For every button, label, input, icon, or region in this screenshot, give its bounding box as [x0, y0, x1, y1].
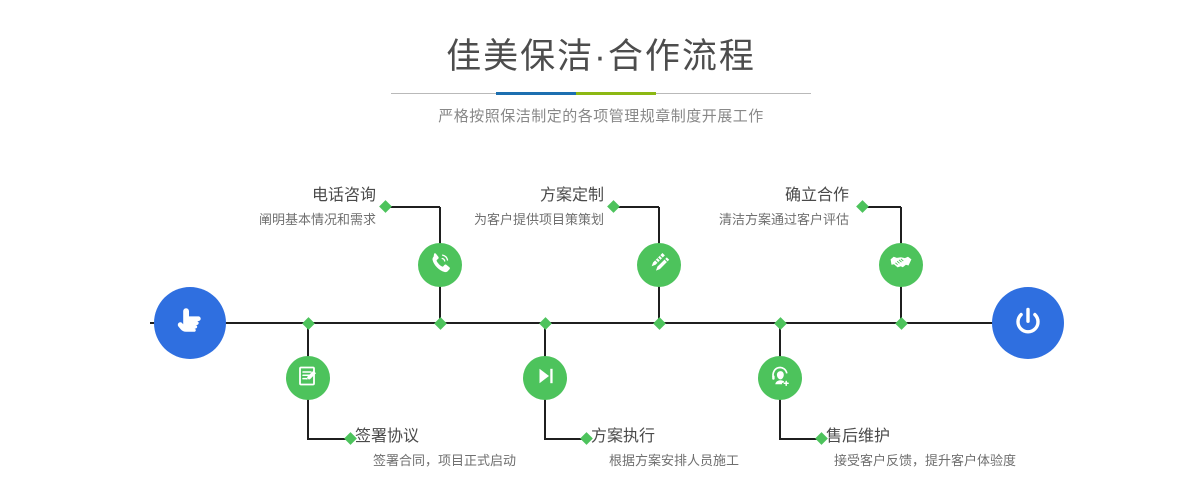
step-label-consult: 电话咨询 阐明基本情况和需求 — [151, 186, 376, 229]
step-label-sign: 签署协议 签署合同，项目正式启动 — [355, 427, 615, 470]
pencil-ruler-icon — [646, 250, 672, 281]
timeline-axis — [150, 322, 1052, 324]
step-title: 电话咨询 — [151, 186, 376, 206]
step-title: 确立合作 — [624, 186, 849, 206]
step-icon-plan[interactable] — [637, 243, 681, 287]
axis-node-marker — [434, 317, 447, 330]
step-title: 签署协议 — [355, 427, 615, 447]
step-icon-aftersales[interactable] — [758, 356, 802, 400]
process-flow-page: 佳美保洁·合作流程 严格按照保洁制定的各项管理规章制度开展工作 — [0, 0, 1202, 502]
axis-node-marker — [895, 317, 908, 330]
play-execute-icon — [532, 363, 558, 394]
step-desc: 接受客户反馈，提升客户体验度 — [826, 451, 1126, 470]
label-node-marker — [856, 200, 869, 213]
phone-call-icon — [427, 250, 453, 281]
step-desc: 阐明基本情况和需求 — [151, 210, 376, 229]
headset-support-icon — [767, 363, 793, 394]
power-icon — [1008, 301, 1048, 346]
step-icon-execute[interactable] — [523, 356, 567, 400]
step-icon-sign[interactable] — [286, 356, 330, 400]
step-title: 售后维护 — [826, 427, 1126, 447]
label-node-marker — [607, 200, 620, 213]
pointing-hand-icon — [170, 301, 210, 346]
step-label-cooperate: 确立合作 清洁方案通过客户评估 — [624, 186, 849, 229]
process-timeline: 电话咨询 阐明基本情况和需求 签署协议 签署合同，项目正式启动 — [0, 0, 1202, 502]
axis-node-marker — [774, 317, 787, 330]
step-label-aftersales: 售后维护 接受客户反馈，提升客户体验度 — [826, 427, 1126, 470]
step-desc: 签署合同，项目正式启动 — [355, 451, 615, 470]
step-desc: 根据方案安排人员施工 — [591, 451, 851, 470]
timeline-end-node[interactable] — [992, 287, 1064, 359]
document-pen-icon — [295, 363, 321, 394]
axis-node-marker — [653, 317, 666, 330]
step-label-execute: 方案执行 根据方案安排人员施工 — [591, 427, 851, 470]
step-desc: 为客户提供项目策策划 — [379, 210, 604, 229]
step-icon-consult[interactable] — [418, 243, 462, 287]
step-title: 方案定制 — [379, 186, 604, 206]
step-icon-cooperate[interactable] — [879, 243, 923, 287]
step-label-plan: 方案定制 为客户提供项目策策划 — [379, 186, 604, 229]
step-title: 方案执行 — [591, 427, 851, 447]
handshake-icon — [888, 250, 914, 281]
axis-node-marker — [539, 317, 552, 330]
timeline-start-node[interactable] — [154, 287, 226, 359]
axis-node-marker — [302, 317, 315, 330]
step-desc: 清洁方案通过客户评估 — [624, 210, 849, 229]
